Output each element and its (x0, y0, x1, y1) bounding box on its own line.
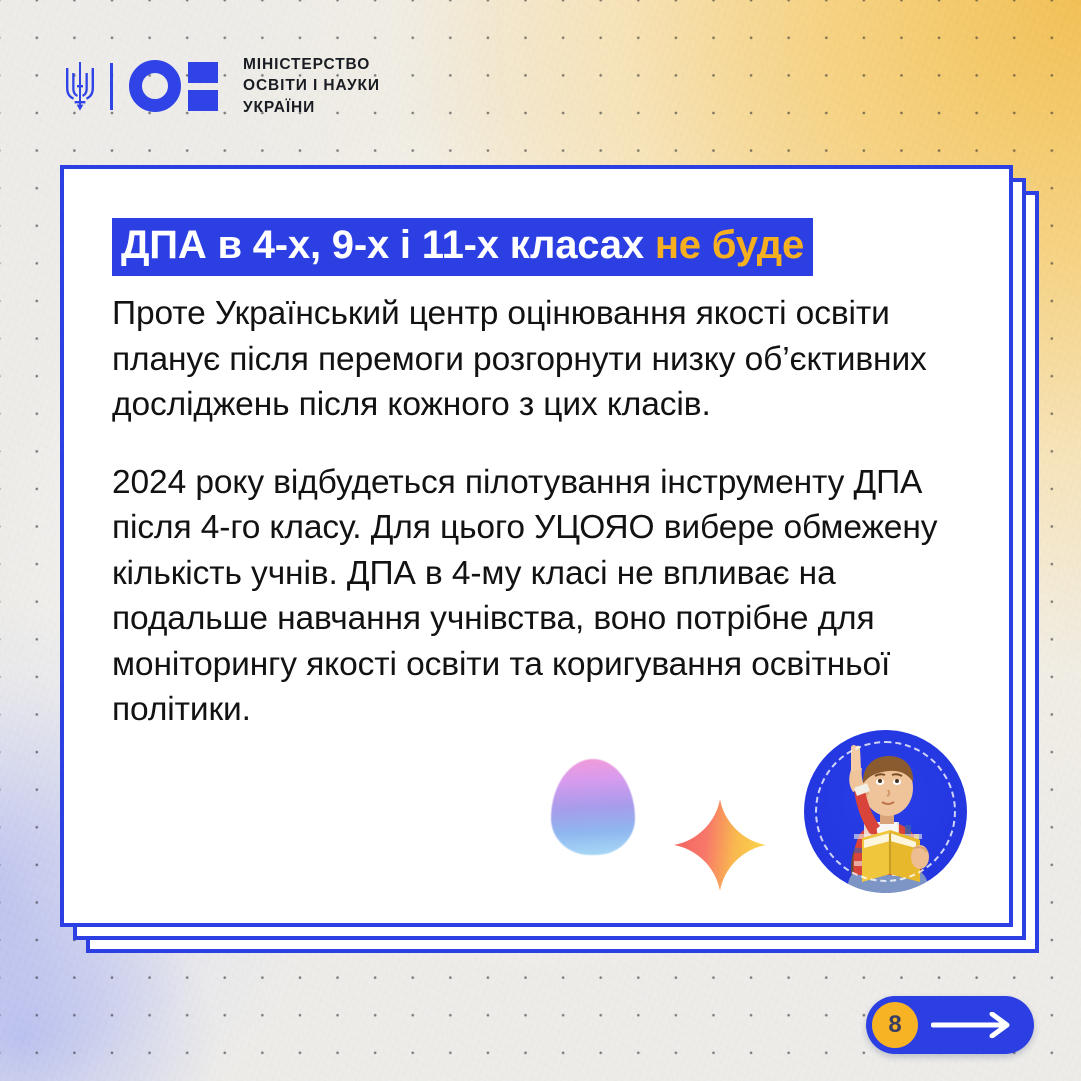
ministry-logo-text: МІНІСТЕРСТВО ОСВІТИ І НАУКИ УКРАЇНИ (243, 54, 380, 118)
body-paragraph-1: Проте Український центр оцінювання якост… (112, 291, 942, 428)
next-page-button[interactable]: 8 (866, 996, 1034, 1054)
body-paragraph-2: 2024 року відбудеться пілотування інстру… (112, 460, 942, 733)
mon-o-mark-icon (129, 60, 218, 112)
page-number-badge: 8 (872, 1002, 918, 1048)
ukraine-trident-icon (63, 60, 97, 112)
logo-ring-shape (129, 60, 181, 112)
logo-text-line-3: УКРАЇНИ (243, 97, 380, 118)
logo-divider (110, 63, 113, 110)
page-title-accent: не буде (655, 223, 804, 267)
logo-text-line-2: ОСВІТИ І НАУКИ (243, 75, 380, 96)
headline-wrapper: ДПА в 4-х, 9-х і 11-х класах не буде (112, 218, 813, 276)
page-title-main: ДПА в 4-х, 9-х і 11-х класах (121, 223, 655, 267)
card-body: Проте Український центр оцінювання якост… (112, 291, 942, 733)
logo-bars-shape (188, 62, 218, 111)
gradient-egg-shape (551, 759, 635, 855)
slide-canvas: МІНІСТЕРСТВО ОСВІТИ І НАУКИ УКРАЇНИ ДПА … (0, 0, 1081, 1081)
page-title: ДПА в 4-х, 9-х і 11-х класах не буде (112, 218, 813, 276)
boy-with-yellow-book-photo (804, 730, 967, 893)
photo-dashed-ring (815, 741, 956, 882)
gradient-four-point-star (672, 797, 768, 893)
content-card: ДПА в 4-х, 9-х і 11-х класах не буде Про… (60, 165, 1013, 927)
arrow-right-icon (918, 1012, 1030, 1038)
ministry-logo: МІНІСТЕРСТВО ОСВІТИ І НАУКИ УКРАЇНИ (63, 54, 380, 118)
logo-text-line-1: МІНІСТЕРСТВО (243, 54, 380, 75)
